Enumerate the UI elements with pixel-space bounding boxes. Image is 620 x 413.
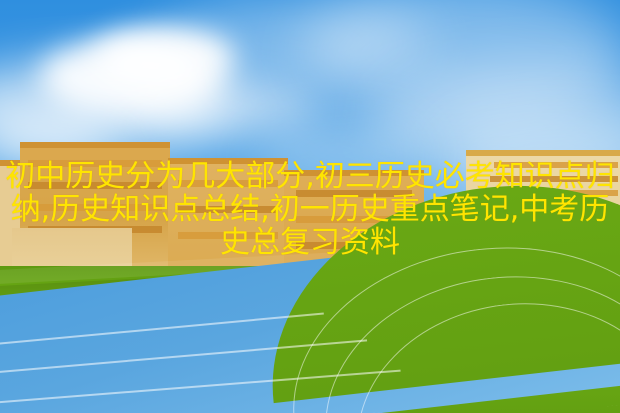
- page-title: 初中历史分为几大部分,初三历史必考知识点归纳,历史知识点总结,初一历史重点笔记,…: [0, 160, 620, 259]
- building-roof: [20, 142, 170, 148]
- track-lane-line: [0, 312, 324, 347]
- building-roof: [466, 150, 620, 156]
- banner-image: 初中历史分为几大部分,初三历史必考知识点归纳,历史知识点总结,初一历史重点笔记,…: [0, 0, 620, 413]
